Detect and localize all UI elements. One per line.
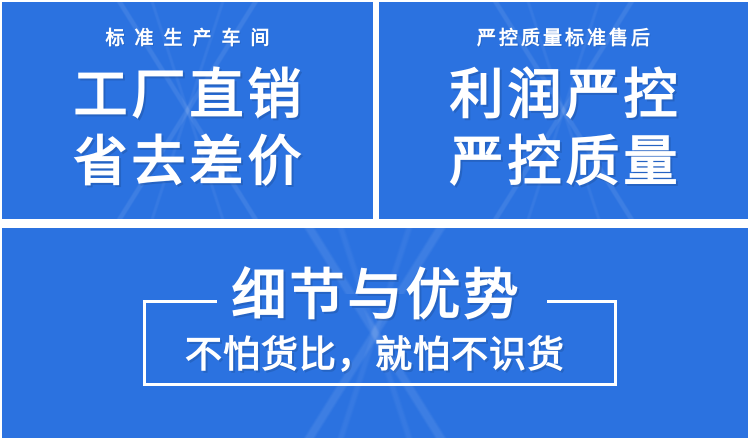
panel-right-eyebrow: 严控质量标准售后: [379, 28, 748, 50]
panel-left-headline-line2: 省去差价: [2, 133, 373, 191]
panel-bottom-title: 细节与优势: [2, 266, 748, 324]
panel-factory-direct-content: 标准生产车间 工厂直销 省去差价: [2, 2, 373, 219]
panel-left-headline-line1: 工厂直销: [2, 66, 373, 124]
panel-factory-direct: 标准生产车间 工厂直销 省去差价: [2, 2, 373, 219]
panel-left-eyebrow: 标准生产车间: [2, 28, 373, 50]
panel-details-advantages: 细节与优势 不怕货比，就怕不识货: [2, 228, 748, 438]
promo-banner: 标准生产车间 工厂直销 省去差价 严控质量标准售后 利润严控 严控质量 细节与优…: [0, 0, 750, 440]
panel-right-headline-line1: 利润严控: [379, 66, 748, 124]
panel-quality-control-content: 严控质量标准售后 利润严控 严控质量: [379, 2, 748, 219]
panel-details-advantages-content: 细节与优势 不怕货比，就怕不识货: [2, 228, 748, 438]
panel-quality-control: 严控质量标准售后 利润严控 严控质量: [379, 2, 748, 219]
panel-right-headline-line2: 严控质量: [379, 133, 748, 191]
panel-bottom-subtitle: 不怕货比，就怕不识货: [2, 334, 748, 376]
